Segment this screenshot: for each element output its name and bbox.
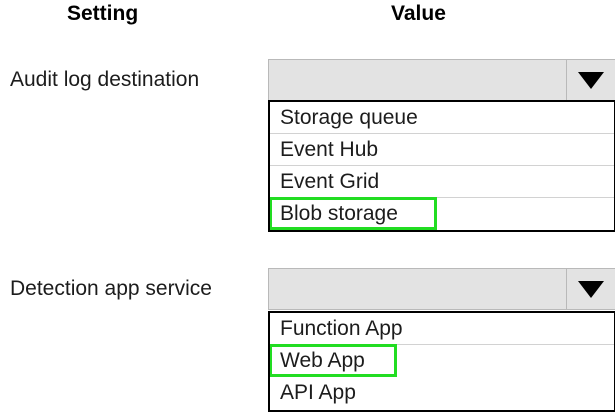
dropdown-list-detection-app-service[interactable]: Function App Web App API App (268, 311, 615, 412)
column-header-value: Value (391, 2, 446, 26)
dropdown-audit-log-destination-arrow-button[interactable] (566, 60, 615, 100)
list-item-label: Event Grid (280, 171, 379, 193)
list-item-label: API App (280, 382, 356, 404)
list-item-event-grid[interactable]: Event Grid (270, 166, 614, 198)
list-item-label: Blob storage (280, 203, 398, 225)
list-item-event-hub[interactable]: Event Hub (270, 134, 614, 166)
list-item-api-app[interactable]: API App (270, 377, 614, 409)
row-label-detection-app-service: Detection app service (10, 276, 212, 302)
list-item-label: Function App (280, 318, 403, 340)
column-header-setting: Setting (67, 2, 138, 26)
dropdown-audit-log-destination[interactable] (268, 59, 615, 101)
chevron-down-icon (578, 72, 604, 89)
list-item-label: Web App (280, 350, 365, 372)
dropdown-detection-app-service-arrow-button[interactable] (566, 269, 615, 309)
list-item-label: Storage queue (280, 107, 418, 129)
dropdown-detection-app-service[interactable] (268, 268, 615, 310)
row-label-audit-log-destination: Audit log destination (10, 67, 199, 93)
dropdown-audit-log-destination-value (269, 60, 566, 100)
dropdown-list-audit-log-destination[interactable]: Storage queue Event Hub Event Grid Blob … (268, 100, 615, 232)
dropdown-detection-app-service-value (269, 269, 566, 309)
list-item-storage-queue[interactable]: Storage queue (270, 102, 614, 134)
list-item-blob-storage[interactable]: Blob storage (270, 198, 614, 230)
list-item-web-app[interactable]: Web App (270, 345, 614, 377)
chevron-down-icon (578, 281, 604, 298)
list-item-function-app[interactable]: Function App (270, 313, 614, 345)
list-item-label: Event Hub (280, 139, 378, 161)
